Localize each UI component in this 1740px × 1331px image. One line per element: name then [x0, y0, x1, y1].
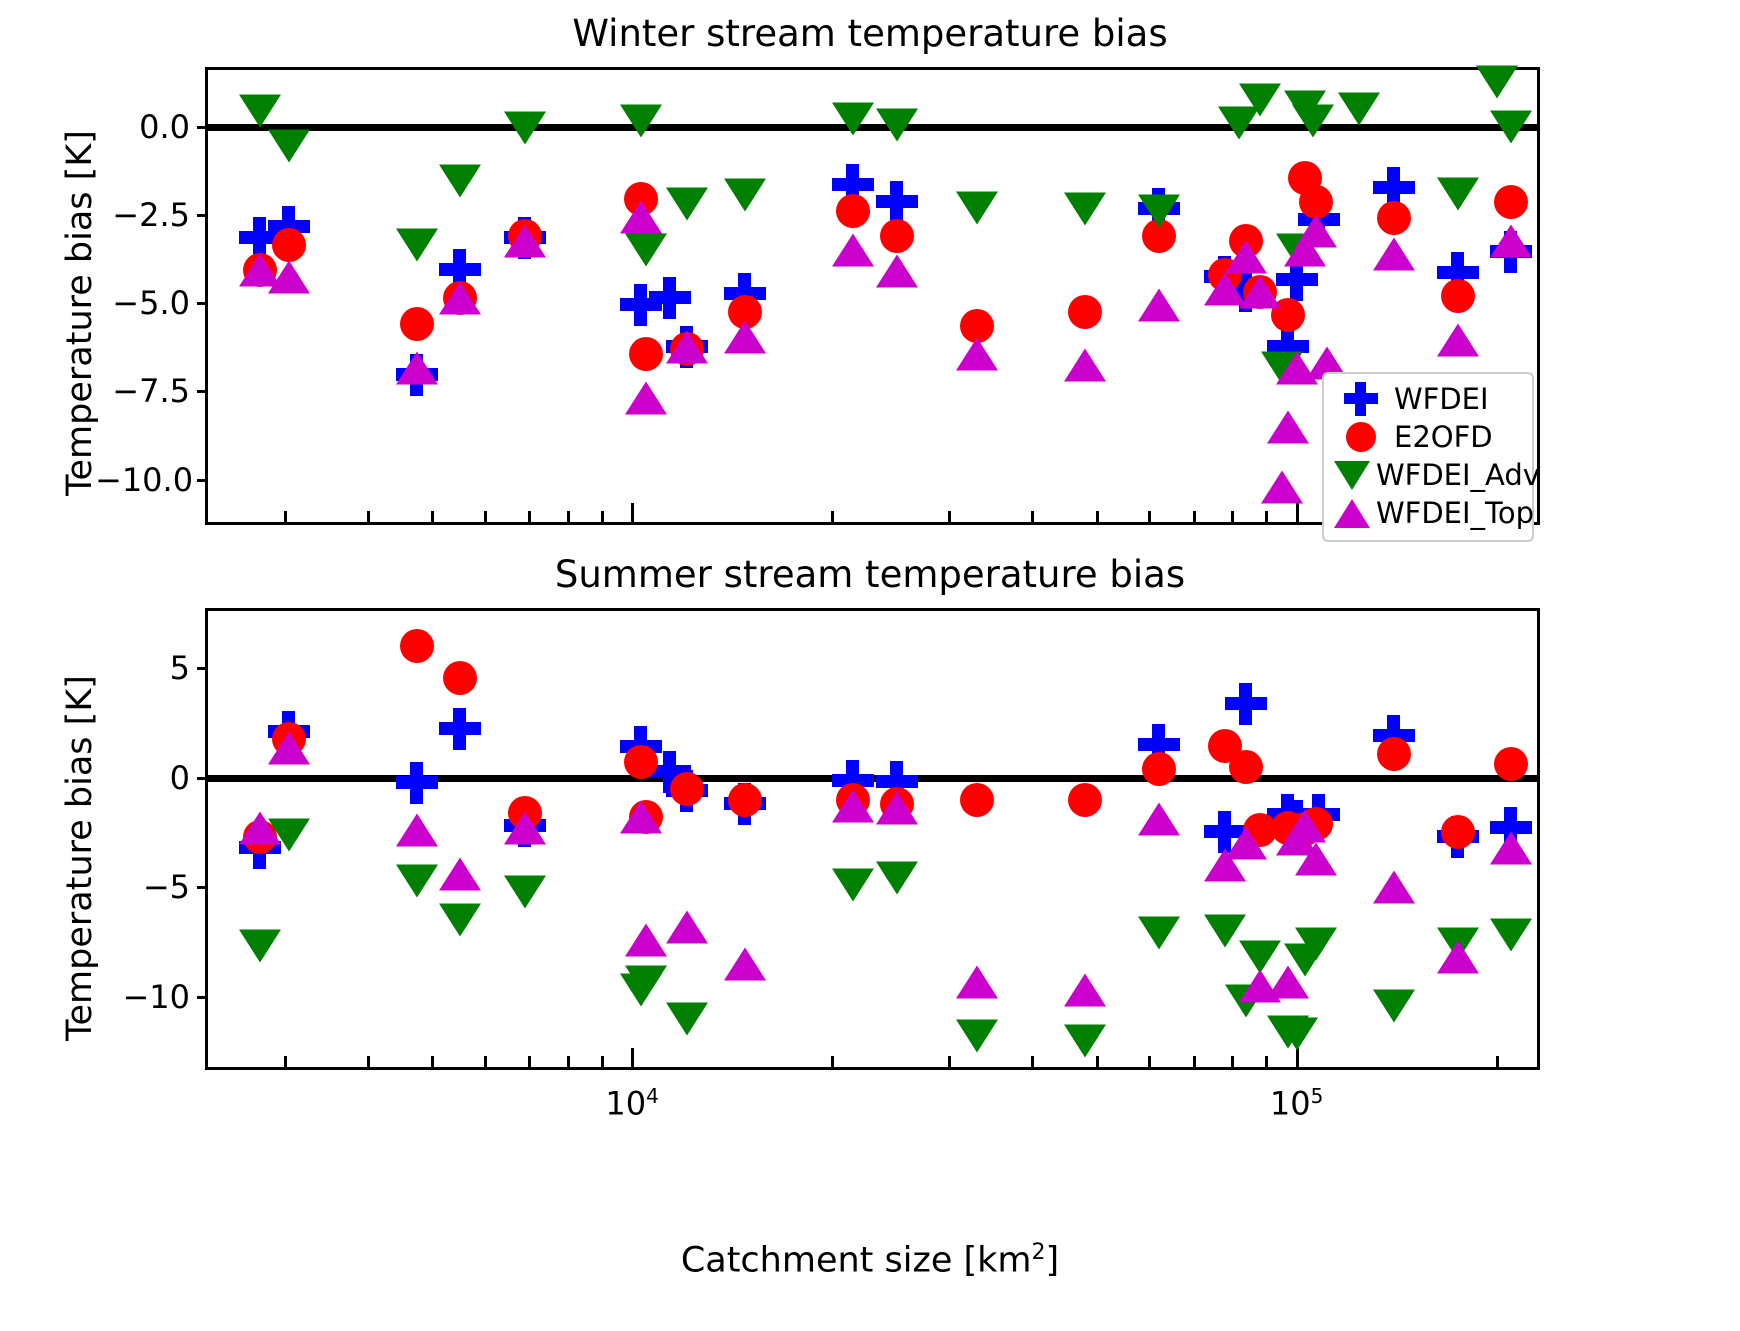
summer-plot-area	[205, 608, 1540, 1070]
summer-x-tick-minor	[484, 1056, 487, 1067]
winter-y-tick-label: −10.0	[95, 461, 190, 499]
x-axis-label-text: Catchment size [km	[681, 1241, 1032, 1281]
winter-x-tick-minor	[367, 511, 370, 522]
data-point-wfdei-adv	[1437, 177, 1479, 210]
data-point-wfdei	[649, 277, 691, 319]
winter-x-tick-minor	[1148, 511, 1151, 522]
data-point-e2ofd	[1377, 201, 1411, 235]
data-point-wfdei-top	[1490, 225, 1532, 258]
data-point-wfdei-adv	[396, 228, 438, 261]
circle-marker-icon	[1334, 418, 1388, 456]
data-point-wfdei-top	[832, 790, 874, 823]
data-point-wfdei-adv	[1138, 917, 1180, 950]
data-point-wfdei-top	[1138, 803, 1180, 836]
data-point-wfdei-adv	[666, 188, 708, 221]
data-point-e2ofd	[443, 661, 477, 695]
x-axis-label-tail: ]	[1046, 1241, 1060, 1281]
winter-y-tick-label: −7.5	[95, 372, 190, 410]
summer-x-tick-minor	[567, 1056, 570, 1067]
data-point-wfdei-top	[625, 923, 667, 956]
data-point-e2ofd	[1377, 737, 1411, 771]
winter-x-tick-minor	[484, 511, 487, 522]
data-point-wfdei-top	[1239, 276, 1281, 309]
data-point-wfdei	[876, 181, 918, 223]
winter-x-tick-minor	[528, 511, 531, 522]
legend-label-wfdei-top: WFDEI_Top	[1376, 496, 1534, 530]
data-point-wfdei-adv	[239, 930, 281, 963]
data-point-wfdei-top	[956, 338, 998, 371]
winter-x-tick-minor	[431, 511, 434, 522]
summer-x-tick-minor	[948, 1056, 951, 1067]
summer-x-tick-minor	[1496, 1056, 1499, 1067]
data-point-wfdei-top	[1267, 410, 1309, 443]
data-point-e2ofd	[836, 194, 870, 228]
winter-x-tick-minor	[567, 511, 570, 522]
legend-item-e2ofd: E2OFD	[1334, 418, 1518, 456]
data-point-wfdei-top	[1437, 324, 1479, 357]
data-point-wfdei-top	[439, 281, 481, 314]
summer-x-tick-minor	[1031, 1056, 1034, 1067]
data-point-wfdei-adv	[504, 875, 546, 908]
winter-y-tick-label: −2.5	[95, 196, 190, 234]
data-point-wfdei-adv	[396, 864, 438, 897]
summer-x-tick-major	[631, 1048, 634, 1067]
data-point-wfdei-top	[268, 260, 310, 293]
data-point-wfdei-top	[396, 814, 438, 847]
data-point-wfdei-adv	[1490, 919, 1532, 952]
data-point-wfdei-top	[439, 858, 481, 891]
winter-y-tick	[197, 126, 208, 129]
data-point-wfdei-adv	[832, 869, 874, 902]
data-point-wfdei-adv	[1292, 105, 1334, 138]
winter-y-tick	[197, 214, 208, 217]
data-point-wfdei-adv	[504, 112, 546, 145]
data-point-wfdei-top	[1261, 470, 1303, 503]
winter-y-tick	[197, 302, 208, 305]
data-point-wfdei-adv	[268, 129, 310, 162]
data-point-e2ofd	[1441, 279, 1475, 313]
legend-item-wfdei: WFDEI	[1334, 380, 1518, 418]
data-point-wfdei-adv	[439, 165, 481, 198]
summer-x-tick-minor	[601, 1056, 604, 1067]
data-point-wfdei-adv	[1295, 928, 1337, 961]
summer-x-tick-minor	[1193, 1056, 1196, 1067]
data-point-wfdei-top	[620, 801, 662, 834]
data-point-wfdei-adv	[1276, 1018, 1318, 1051]
data-point-wfdei-adv	[625, 234, 667, 267]
data-point-wfdei-top	[724, 947, 766, 980]
data-point-e2ofd	[670, 772, 704, 806]
data-point-e2ofd	[1068, 295, 1102, 329]
summer-y-tick	[197, 886, 208, 889]
summer-x-tick-minor	[367, 1056, 370, 1067]
data-point-e2ofd	[400, 629, 434, 663]
data-point-wfdei-adv	[1138, 195, 1180, 228]
summer-y-tick-label: 5	[95, 649, 190, 687]
data-point-wfdei-adv	[1239, 84, 1281, 117]
data-point-e2ofd	[728, 783, 762, 817]
data-point-e2ofd	[1441, 815, 1475, 849]
data-point-wfdei-top	[666, 331, 708, 364]
data-point-wfdei-adv	[956, 191, 998, 224]
data-point-wfdei-top	[1373, 237, 1415, 270]
winter-x-tick-minor	[601, 511, 604, 522]
data-point-e2ofd	[1494, 747, 1528, 781]
legend: WFDEI E2OFD WFDEI_Adv WFDEI_Top	[1322, 372, 1534, 542]
data-point-wfdei-adv	[956, 1020, 998, 1053]
data-point-wfdei-top	[1490, 831, 1532, 864]
legend-label-wfdei-adv: WFDEI_Adv	[1376, 458, 1540, 492]
data-point-wfdei-adv	[1064, 193, 1106, 226]
data-point-wfdei-top	[625, 382, 667, 415]
x-axis-label-exponent: 2	[1032, 1240, 1046, 1265]
legend-item-wfdei-adv: WFDEI_Adv	[1334, 456, 1518, 494]
summer-x-tick-minor	[431, 1056, 434, 1067]
legend-item-wfdei-top: WFDEI_Top	[1334, 494, 1518, 532]
data-point-wfdei-adv	[832, 103, 874, 136]
data-point-e2ofd	[880, 219, 914, 253]
data-point-e2ofd	[1142, 752, 1176, 786]
summer-panel-title: Summer stream temperature bias	[0, 553, 1740, 596]
x-tick-label: 105	[1270, 1084, 1323, 1123]
summer-y-tick	[197, 777, 208, 780]
data-point-wfdei-adv	[724, 179, 766, 212]
winter-y-tick-label: −5.0	[95, 284, 190, 322]
data-point-e2ofd	[624, 745, 658, 779]
summer-x-tick-minor	[1231, 1056, 1234, 1067]
data-point-wfdei-adv	[666, 1002, 708, 1035]
summer-x-tick-minor	[284, 1056, 287, 1067]
data-point-wfdei-top	[1225, 827, 1267, 860]
data-point-e2ofd	[629, 337, 663, 371]
data-point-wfdei-top	[876, 792, 918, 825]
data-point-wfdei	[439, 708, 481, 750]
summer-y-tick	[197, 667, 208, 670]
data-point-wfdei-top	[620, 200, 662, 233]
summer-y-tick-label: −10	[95, 978, 190, 1016]
data-point-wfdei-adv	[439, 904, 481, 937]
winter-x-tick-minor	[1096, 511, 1099, 522]
data-point-wfdei-top	[1225, 241, 1267, 274]
data-point-wfdei-top	[1267, 965, 1309, 998]
data-point-wfdei-top	[268, 732, 310, 765]
data-point-e2ofd	[1494, 185, 1528, 219]
winter-x-tick-minor	[1193, 511, 1196, 522]
data-point-wfdei-top	[956, 965, 998, 998]
winter-y-axis-label: Temperature bias [K]	[60, 103, 100, 523]
data-point-wfdei-top	[239, 812, 281, 845]
winter-y-tick	[197, 479, 208, 482]
summer-x-tick-minor	[1265, 1056, 1268, 1067]
legend-label-e2ofd: E2OFD	[1394, 420, 1493, 454]
data-point-wfdei-adv	[876, 108, 918, 141]
data-point-wfdei-adv	[239, 94, 281, 127]
data-point-wfdei	[396, 762, 438, 804]
summer-x-tick-minor	[1096, 1056, 1099, 1067]
data-point-wfdei-adv	[1373, 989, 1415, 1022]
summer-y-tick-label: −5	[95, 868, 190, 906]
data-point-wfdei-top	[1138, 288, 1180, 321]
legend-label-wfdei: WFDEI	[1394, 382, 1489, 416]
x-axis-label: Catchment size [km2]	[0, 1240, 1740, 1281]
data-point-wfdei-adv	[620, 105, 662, 138]
data-point-wfdei-adv	[1064, 1024, 1106, 1057]
winter-x-tick-major	[631, 503, 634, 522]
data-point-wfdei-top	[666, 910, 708, 943]
data-point-wfdei-adv	[876, 862, 918, 895]
data-point-wfdei	[1225, 683, 1267, 725]
winter-x-tick-major	[1296, 503, 1299, 522]
winter-x-tick-minor	[1265, 511, 1268, 522]
data-point-wfdei-top	[1295, 214, 1337, 247]
winter-x-tick-minor	[831, 511, 834, 522]
summer-y-axis-label: Temperature bias [K]	[60, 648, 100, 1068]
data-point-wfdei-adv	[1476, 66, 1518, 99]
data-point-wfdei-top	[504, 812, 546, 845]
winter-x-tick-minor	[1231, 511, 1234, 522]
winter-x-tick-minor	[284, 511, 287, 522]
triangle-up-marker-icon	[1334, 494, 1370, 532]
summer-y-tick-label: 0	[95, 759, 190, 797]
summer-y-tick	[197, 996, 208, 999]
data-point-wfdei-adv	[1338, 92, 1380, 125]
x-tick-label: 104	[605, 1084, 658, 1123]
figure-root: Winter stream temperature bias Temperatu…	[0, 0, 1740, 1331]
data-point-wfdei-top	[1064, 348, 1106, 381]
winter-x-tick-minor	[1031, 511, 1034, 522]
winter-panel-title: Winter stream temperature bias	[0, 12, 1740, 55]
data-point-wfdei-top	[396, 352, 438, 385]
data-point-wfdei-top	[1437, 941, 1479, 974]
data-point-wfdei-adv	[1490, 110, 1532, 143]
data-point-wfdei-top	[724, 320, 766, 353]
data-point-wfdei-top	[1295, 842, 1337, 875]
triangle-down-marker-icon	[1334, 456, 1370, 494]
data-point-e2ofd	[1229, 750, 1263, 784]
winter-y-tick-label: 0.0	[95, 108, 190, 146]
winter-x-tick-minor	[948, 511, 951, 522]
data-point-wfdei-top	[1284, 809, 1326, 842]
data-point-wfdei-top	[876, 255, 918, 288]
summer-x-tick-minor	[528, 1056, 531, 1067]
data-point-wfdei-adv	[625, 965, 667, 998]
data-point-wfdei-top	[832, 234, 874, 267]
summer-x-tick-minor	[1148, 1056, 1151, 1067]
summer-x-tick-minor	[831, 1056, 834, 1067]
data-point-wfdei-top	[504, 225, 546, 258]
data-point-e2ofd	[960, 783, 994, 817]
winter-y-tick	[197, 390, 208, 393]
summer-x-tick-major	[1296, 1048, 1299, 1067]
data-point-wfdei-top	[1373, 871, 1415, 904]
plus-marker-icon	[1334, 380, 1388, 418]
data-point-e2ofd	[400, 307, 434, 341]
data-point-e2ofd	[1068, 783, 1102, 817]
data-point-wfdei-top	[1064, 974, 1106, 1007]
